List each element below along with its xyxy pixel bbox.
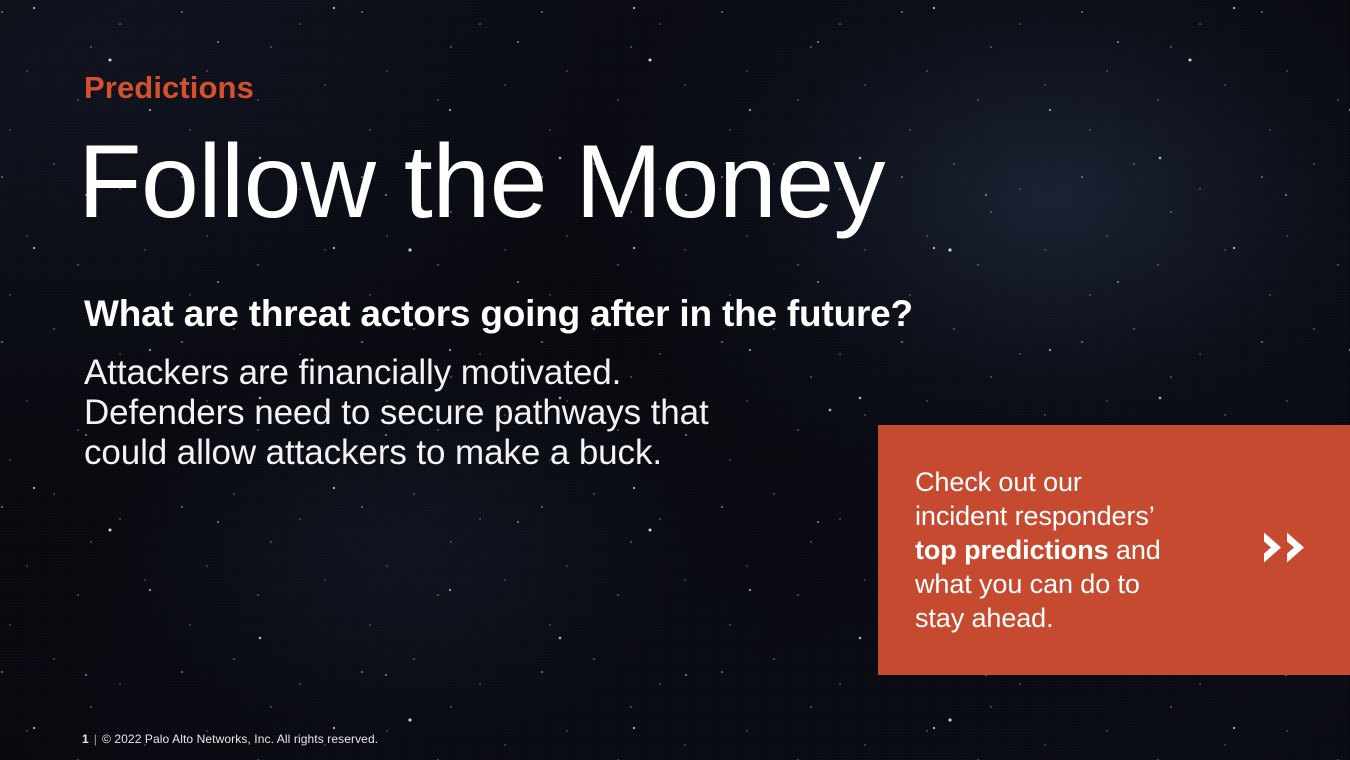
callout-line-1: Check out our bbox=[915, 465, 1215, 499]
footer-separator: | bbox=[94, 732, 97, 746]
callout-line-3-rest: and bbox=[1109, 535, 1161, 565]
slide-canvas: Predictions Follow the Money What are th… bbox=[0, 0, 1350, 760]
body-line-3: could allow attackers to make a buck. bbox=[84, 433, 709, 473]
callout-line-5: stay ahead. bbox=[915, 601, 1215, 635]
copyright-text: © 2022 Palo Alto Networks, Inc. All righ… bbox=[102, 732, 378, 746]
page-title: Follow the Money bbox=[78, 126, 885, 238]
callout-line-2: incident responders’ bbox=[915, 499, 1215, 533]
section-eyebrow-label: Predictions bbox=[84, 70, 254, 106]
callout-text: Check out our incident responders’ top p… bbox=[915, 465, 1215, 635]
double-chevron-right-icon[interactable] bbox=[1260, 528, 1316, 573]
footer: 1 | © 2022 Palo Alto Networks, Inc. All … bbox=[82, 732, 378, 746]
body-paragraph: Attackers are financially motivated. Def… bbox=[84, 353, 709, 473]
page-number: 1 bbox=[82, 732, 89, 746]
subheading: What are threat actors going after in th… bbox=[84, 293, 913, 335]
callout-line-3: top predictions and bbox=[915, 533, 1215, 567]
slide-content: Predictions Follow the Money What are th… bbox=[0, 0, 1350, 760]
body-line-2: Defenders need to secure pathways that bbox=[84, 393, 709, 433]
callout-card[interactable]: Check out our incident responders’ top p… bbox=[878, 425, 1350, 675]
callout-emphasis: top predictions bbox=[915, 535, 1109, 565]
callout-line-4: what you can do to bbox=[915, 567, 1215, 601]
body-line-1: Attackers are financially motivated. bbox=[84, 353, 709, 393]
